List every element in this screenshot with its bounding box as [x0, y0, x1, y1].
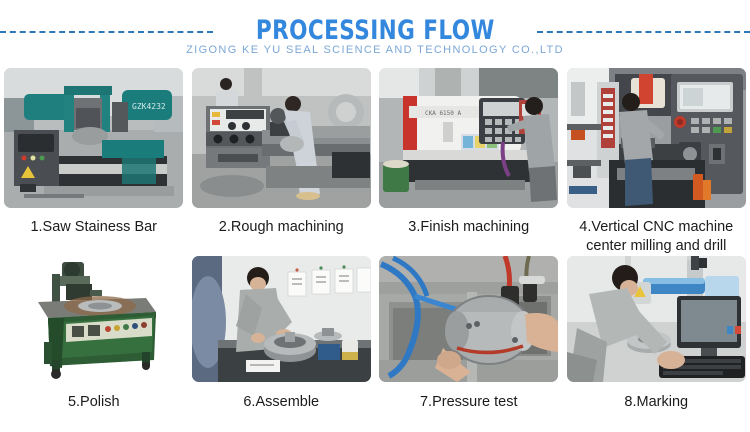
- band-saw-machine-photo: GZK4232: [4, 68, 183, 208]
- vertical-cnc-machining-center-photo: [567, 68, 746, 208]
- page-title: PROCESSING FLOW: [245, 16, 505, 46]
- process-step-6: 6.Assemble: [188, 256, 376, 412]
- process-step-1-caption: 1.Saw Stainess Bar: [3, 208, 185, 237]
- dashed-rule-left: [0, 31, 213, 33]
- process-row-1: GZK4232: [0, 68, 750, 256]
- process-step-2: 2.Rough machining: [188, 68, 376, 256]
- process-grid: GZK4232: [0, 68, 750, 412]
- process-step-2-caption: 2.Rough machining: [190, 208, 372, 237]
- assembly-bench-photo: [192, 256, 371, 382]
- process-step-6-caption: 6.Assemble: [190, 382, 372, 412]
- company-subtitle: ZIGONG KE YU SEAL SCIENCE AND TECHNOLOGY…: [0, 44, 750, 56]
- svg-text:GZK4232: GZK4232: [132, 102, 166, 111]
- svg-text:CKA 6150 A: CKA 6150 A: [425, 110, 462, 117]
- process-step-4-caption: 4.Vertical CNC machine center milling an…: [565, 208, 747, 256]
- process-step-7-caption: 7.Pressure test: [378, 382, 560, 412]
- rough-machining-lathe-photo: [192, 68, 371, 208]
- process-step-4: 4.Vertical CNC machine center milling an…: [563, 68, 750, 256]
- process-step-5: 5.Polish: [0, 256, 188, 412]
- process-step-7: 7.Pressure test: [375, 256, 563, 412]
- laser-marking-station-photo: [567, 256, 746, 382]
- process-step-3-caption: 3.Finish machining: [378, 208, 560, 237]
- process-step-5-caption: 5.Polish: [3, 382, 185, 412]
- process-step-3: CKA 6150 A: [375, 68, 563, 256]
- pressure-test-photo: [379, 256, 558, 382]
- process-row-2: 5.Polish: [0, 256, 750, 412]
- process-step-1: GZK4232: [0, 68, 188, 256]
- dashed-rule-right: [537, 31, 750, 33]
- process-step-8-caption: 8.Marking: [565, 382, 747, 412]
- lapping-polishing-machine-photo: [4, 256, 183, 382]
- page-header: PROCESSING FLOW ZIGONG KE YU SEAL SCIENC…: [0, 0, 750, 68]
- cnc-lathe-photo: CKA 6150 A: [379, 68, 558, 208]
- process-step-8: 8.Marking: [563, 256, 750, 412]
